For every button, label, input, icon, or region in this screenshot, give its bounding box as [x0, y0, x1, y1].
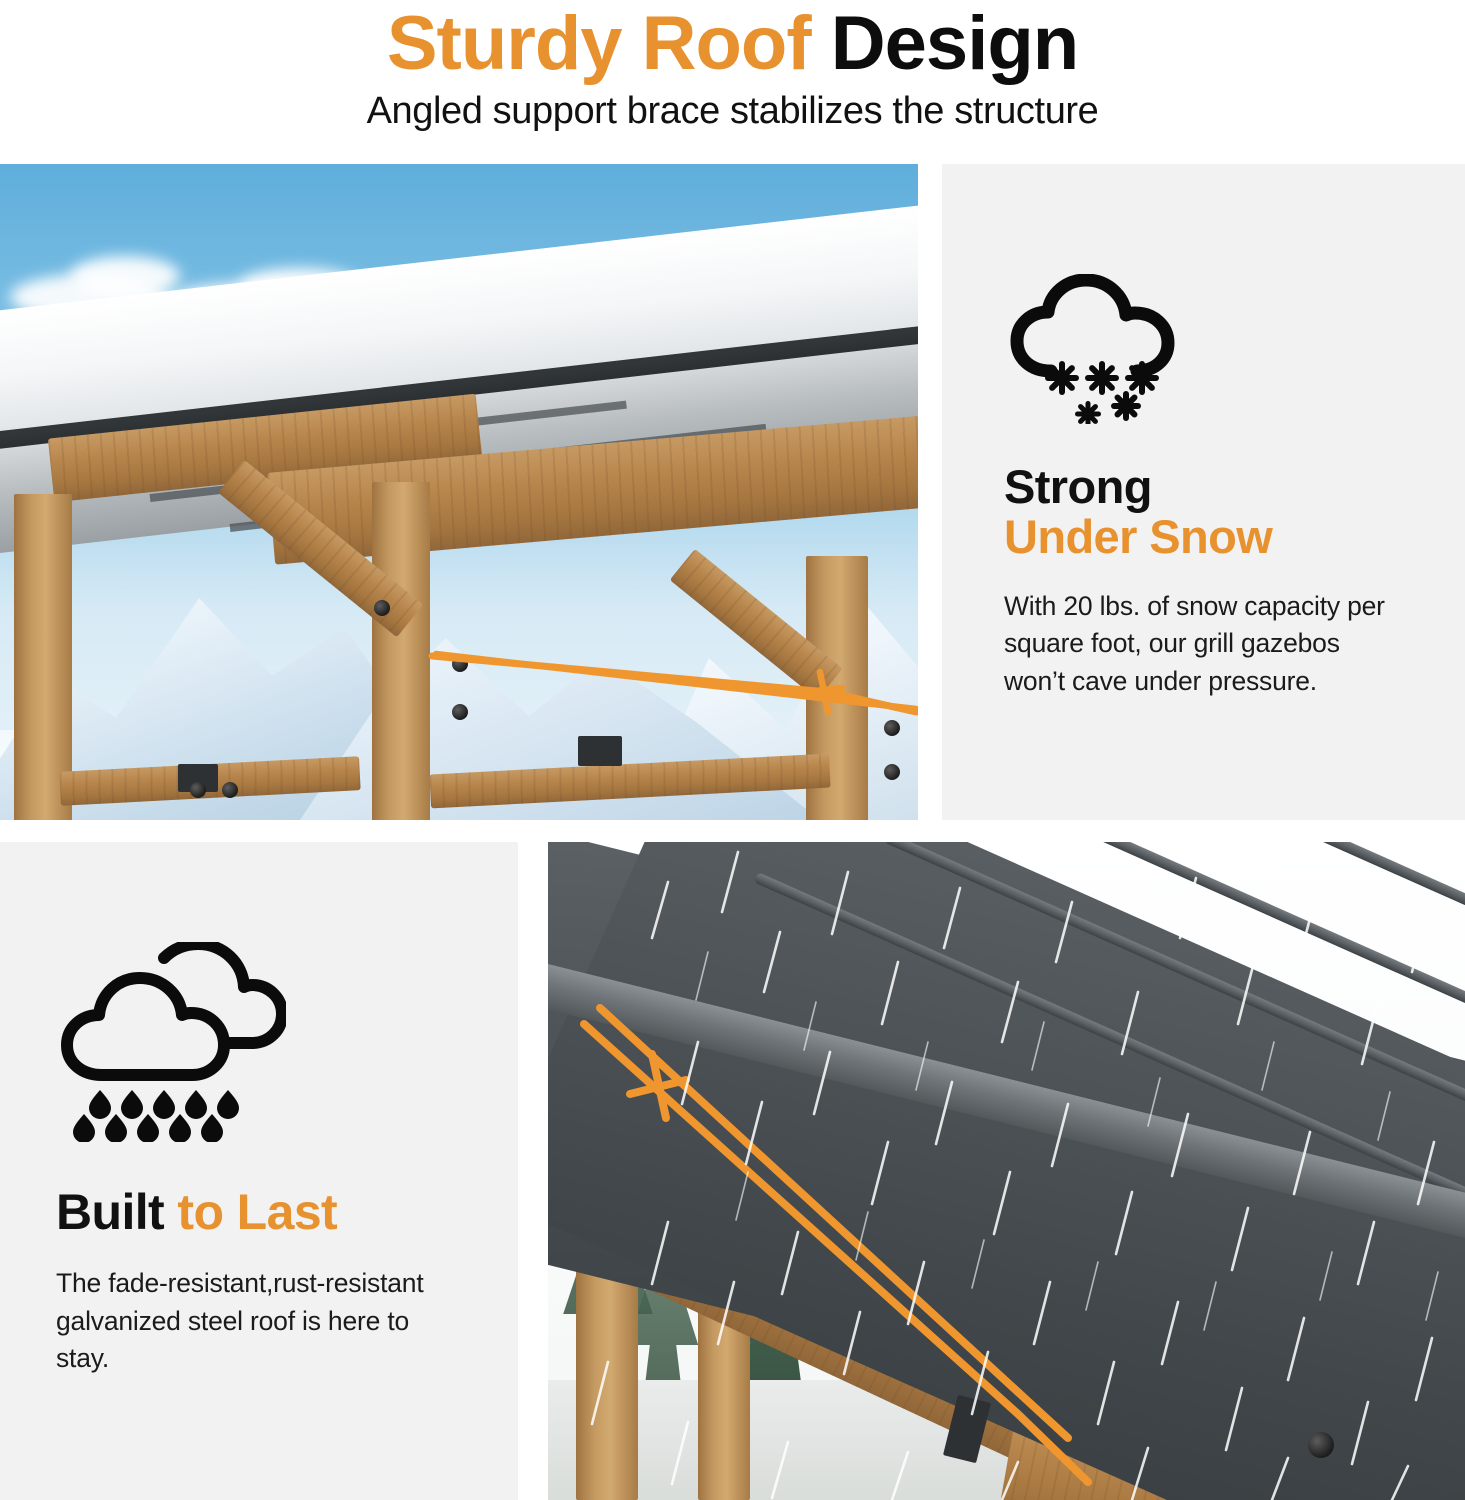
- photo-roof-rain: [548, 842, 1465, 1500]
- photo-gazebo-snow: [0, 164, 918, 820]
- bolt-head: [222, 782, 238, 798]
- bolt-head: [374, 600, 390, 616]
- bolt-head: [190, 782, 206, 798]
- built-heading-dark: Built: [56, 1184, 177, 1240]
- built-body-text: The fade-resistant,rust-resistant galvan…: [56, 1265, 462, 1378]
- built-heading: Built to Last: [56, 1186, 462, 1239]
- snow-heading-line1: Strong: [1004, 462, 1403, 512]
- snow-heading-line2: Under Snow: [1004, 512, 1403, 562]
- snow-body-text: With 20 lbs. of snow capacity per square…: [1004, 588, 1403, 701]
- cloud-puff: [70, 256, 180, 296]
- snow-heading: Strong Under Snow: [1004, 462, 1403, 562]
- infographic-page: Sturdy Roof Design Angled support brace …: [0, 0, 1465, 1500]
- snow-cloud-icon: [1004, 274, 1403, 424]
- page-subtitle: Angled support brace stabilizes the stru…: [367, 90, 1099, 133]
- built-heading-orange: to Last: [177, 1184, 337, 1240]
- gazebo-post: [372, 482, 430, 820]
- panel-strong-under-snow: Strong Under Snow With 20 lbs. of snow c…: [942, 164, 1465, 820]
- page-title-orange: Sturdy Roof: [387, 1, 831, 86]
- metal-bracket: [578, 736, 622, 766]
- bolt-head: [452, 656, 468, 672]
- bolt-head: [884, 720, 900, 736]
- bolt-head: [1308, 1432, 1334, 1458]
- page-title-dark: Design: [831, 1, 1078, 86]
- page-title: Sturdy Roof Design: [387, 6, 1078, 82]
- panel-built-to-last: Built to Last The fade-resistant,rust-re…: [0, 842, 518, 1500]
- header: Sturdy Roof Design Angled support brace …: [0, 0, 1465, 160]
- rain-cloud-icon: [56, 942, 462, 1142]
- bolt-head: [884, 764, 900, 780]
- bolt-head: [452, 704, 468, 720]
